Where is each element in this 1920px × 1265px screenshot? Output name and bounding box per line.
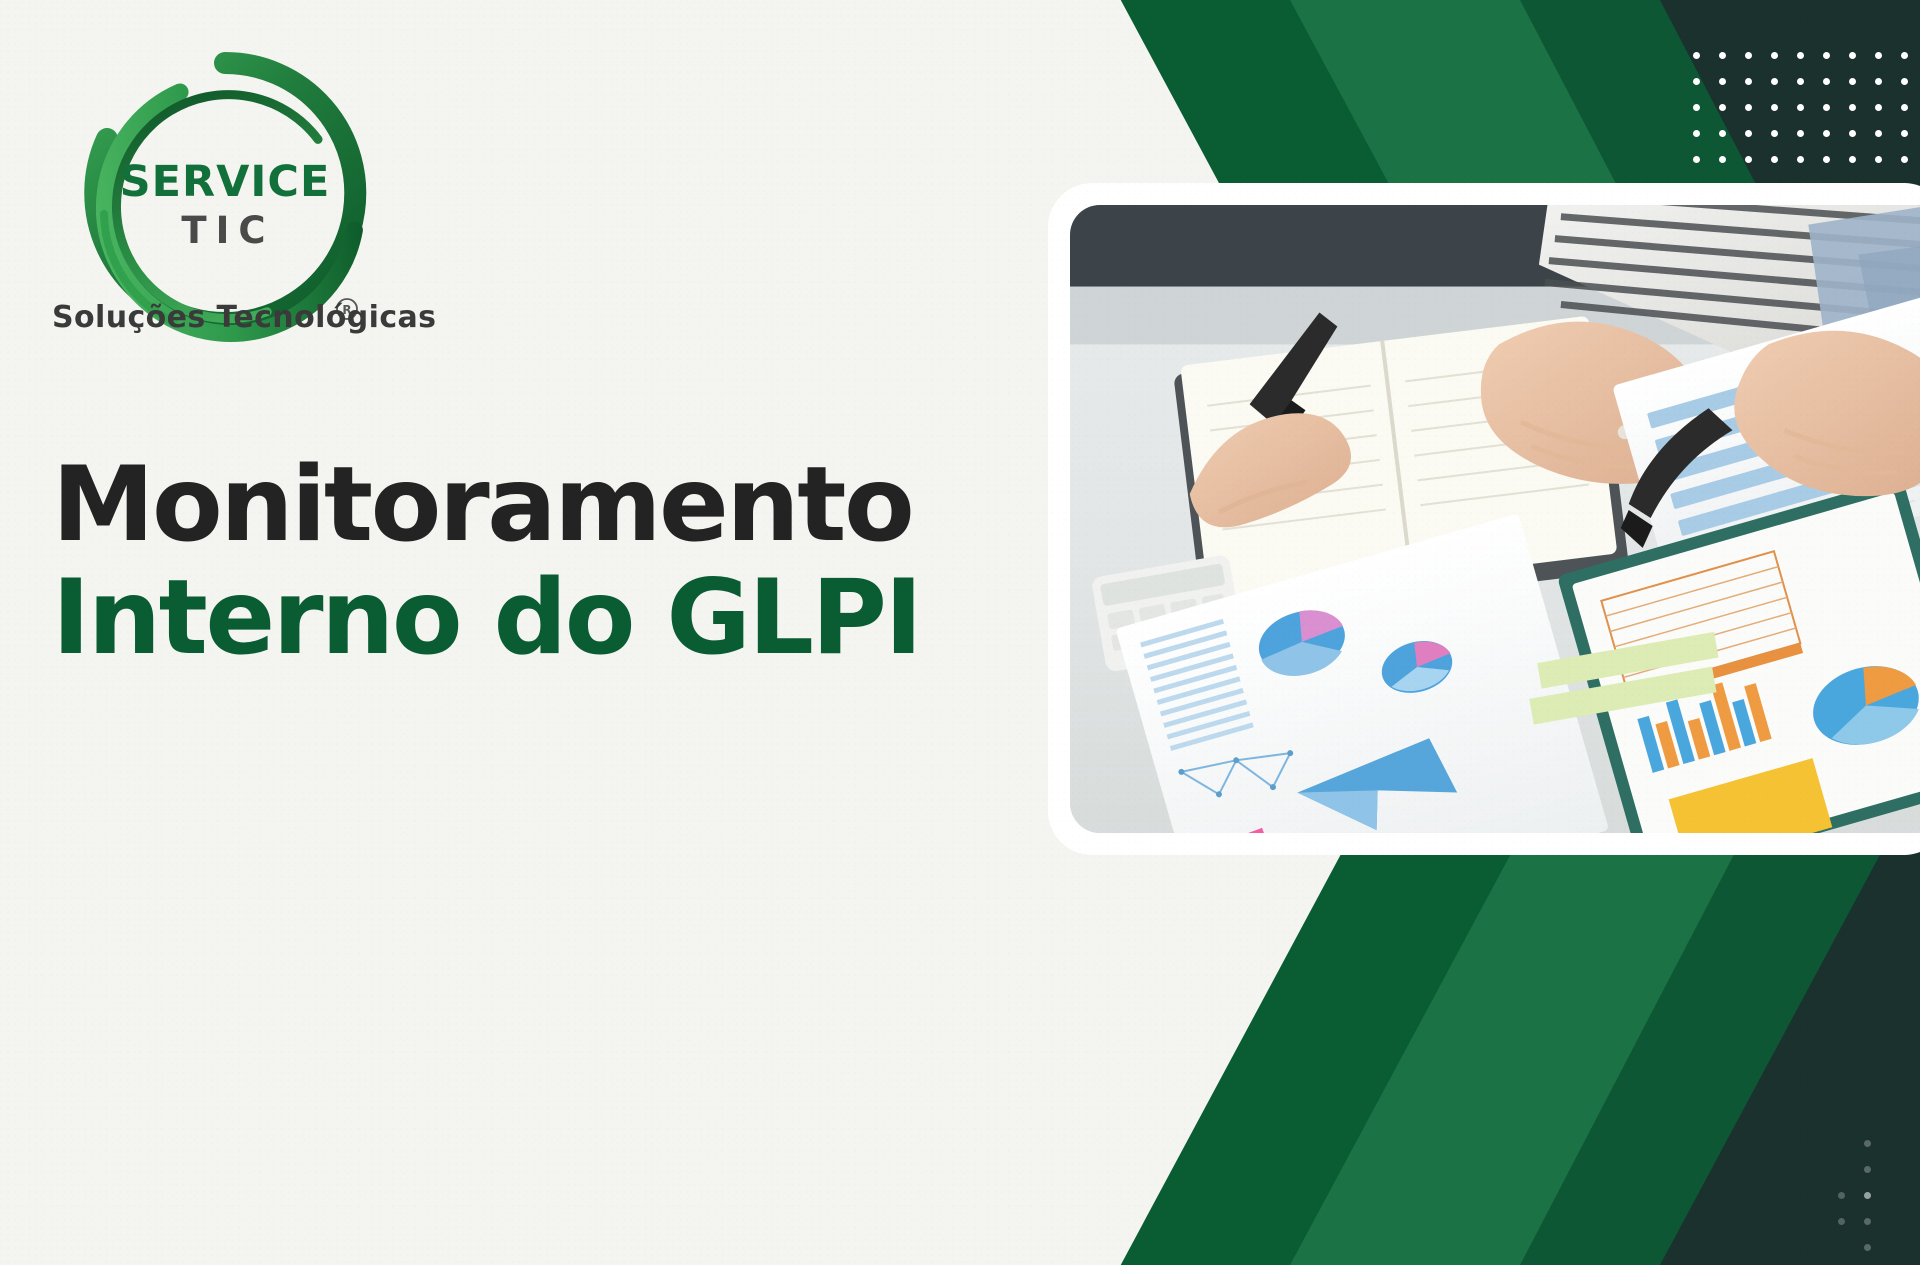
dot-grid-icon-bottom [1838, 1140, 1890, 1265]
headline-line-2: Interno do GLPI [52, 564, 932, 673]
logo-tagline: Soluções Tecnológicas [52, 300, 472, 335]
headline-line-1: Monitoramento [52, 452, 932, 558]
photo-frame [1048, 183, 1920, 855]
dot-grid-icon-top [1693, 52, 1920, 182]
business-analytics-photo [1070, 205, 1920, 833]
promotional-banner: SERVICE TIC R Soluções Tecnológicas Moni… [0, 0, 1920, 1265]
page-title: Monitoramento Interno do GLPI [52, 452, 932, 673]
svg-text:SERVICE: SERVICE [120, 157, 331, 207]
svg-text:TIC: TIC [181, 209, 274, 252]
